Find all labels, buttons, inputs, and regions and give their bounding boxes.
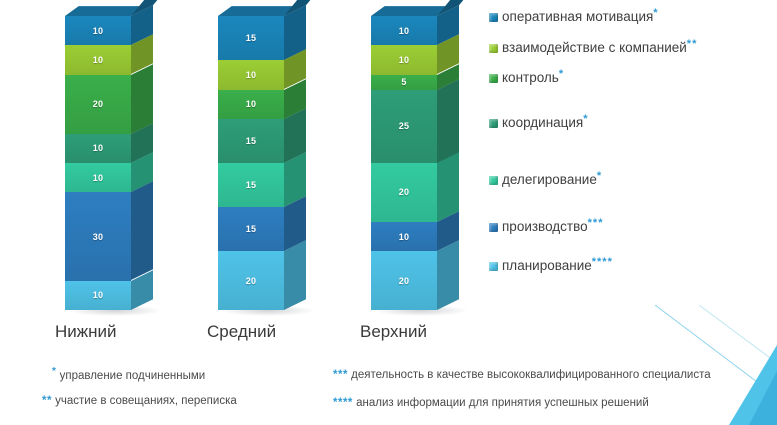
bar-side-face xyxy=(131,182,153,281)
footnote-4: **** анализ информации для принятия успе… xyxy=(333,397,649,409)
footnote-text: участие в совещаниях, переписка xyxy=(52,395,237,407)
legend-footnote-marker: * xyxy=(653,9,658,18)
bar-segment: 20 xyxy=(218,251,284,310)
legend-swatch-icon xyxy=(489,119,498,128)
legend-item-2[interactable]: взаимодействие с компанией** xyxy=(489,40,697,55)
bar-side-face xyxy=(437,152,459,222)
segment-value-label: 10 xyxy=(65,134,131,163)
bar-segment: 20 xyxy=(371,251,437,310)
segment-value-label: 15 xyxy=(218,163,284,207)
bar-segment: 10 xyxy=(65,16,131,45)
segment-value-label: 15 xyxy=(218,119,284,163)
legend-footnote-marker: ** xyxy=(687,40,698,49)
legend-item-6[interactable]: производство*** xyxy=(489,219,603,234)
legend-label: контроль xyxy=(502,70,559,85)
bar-segment: 10 xyxy=(65,45,131,74)
footnote-text: управление подчиненными xyxy=(56,370,205,382)
bar-segment: 25 xyxy=(371,90,437,164)
footnote-text: деятельность в качестве высококвалифицир… xyxy=(348,369,711,381)
legend-label: взаимодействие с компанией xyxy=(502,40,687,55)
bar-side-face xyxy=(437,79,459,163)
segment-value-label: 20 xyxy=(371,251,437,310)
category-label-2: Средний xyxy=(207,322,276,342)
legend-swatch-icon xyxy=(489,223,498,232)
footnote-2: ** участие в совещаниях, переписка xyxy=(42,395,237,407)
legend-label: производство xyxy=(502,219,588,234)
bar-column: 10102010103010 xyxy=(65,16,131,310)
legend-swatch-icon xyxy=(489,262,498,271)
bar-side-face xyxy=(131,64,153,134)
bar-segment: 15 xyxy=(218,16,284,60)
segment-value-label: 10 xyxy=(65,163,131,192)
legend-label: планирование xyxy=(502,258,592,273)
legend-swatch-icon xyxy=(489,13,498,22)
footnote-1: * управление подчиненными xyxy=(52,366,205,382)
segment-value-label: 20 xyxy=(218,251,284,310)
footnote-marker: ** xyxy=(42,395,52,407)
bar-column: 15101015151520 xyxy=(218,16,284,310)
segment-value-label: 5 xyxy=(371,75,437,90)
legend-item-7[interactable]: планирование**** xyxy=(489,258,613,273)
bar-segment: 15 xyxy=(218,119,284,163)
segment-value-label: 10 xyxy=(371,45,437,74)
bar-segment: 10 xyxy=(371,45,437,74)
legend-item-3[interactable]: контроль* xyxy=(489,70,564,85)
legend-item-4[interactable]: координация* xyxy=(489,115,589,130)
bar-segment: 20 xyxy=(65,75,131,134)
bar-segment: 5 xyxy=(371,75,437,90)
bar-segment: 10 xyxy=(371,16,437,45)
bar-side-face xyxy=(437,240,459,310)
bar-segment: 30 xyxy=(65,192,131,280)
segment-value-label: 10 xyxy=(65,16,131,45)
decorative-corner-graphic xyxy=(637,305,777,425)
legend-footnote-marker: *** xyxy=(588,219,604,228)
bar-нижний: 10102010103010 xyxy=(65,16,131,310)
category-label-3: Верхний xyxy=(360,322,427,342)
bar-segment: 10 xyxy=(65,134,131,163)
segment-value-label: 10 xyxy=(65,45,131,74)
legend-label: делегирование xyxy=(502,172,597,187)
segment-value-label: 30 xyxy=(65,192,131,280)
segment-value-label: 10 xyxy=(371,222,437,251)
segment-value-label: 25 xyxy=(371,90,437,164)
segment-value-label: 10 xyxy=(371,16,437,45)
legend-swatch-icon xyxy=(489,74,498,83)
segment-value-label: 20 xyxy=(371,163,437,222)
segment-value-label: 10 xyxy=(65,281,131,310)
legend-item-5[interactable]: делегирование* xyxy=(489,172,602,187)
chart-plot-area: 1010201010301015101015151520101052520102… xyxy=(0,0,490,320)
segment-value-label: 10 xyxy=(218,60,284,89)
bar-segment: 10 xyxy=(218,60,284,89)
chart-legend: оперативная мотивация*взаимодействие с к… xyxy=(489,0,777,295)
legend-label: оперативная мотивация xyxy=(502,9,653,24)
legend-footnote-marker: **** xyxy=(592,258,613,267)
legend-footnote-marker: * xyxy=(597,172,602,181)
footnote-marker: *** xyxy=(333,369,348,381)
bar-column: 1010525201020 xyxy=(371,16,437,310)
bar-segment: 15 xyxy=(218,207,284,251)
legend-footnote-marker: * xyxy=(583,115,588,124)
bar-segment: 10 xyxy=(371,222,437,251)
footnote-3: *** деятельность в качестве высококвалиф… xyxy=(333,369,711,381)
legend-footnote-marker: * xyxy=(559,70,564,79)
segment-value-label: 20 xyxy=(65,75,131,134)
segment-value-label: 15 xyxy=(218,207,284,251)
bar-верхний: 1010525201020 xyxy=(371,16,437,310)
bar-segment: 10 xyxy=(218,90,284,119)
bar-средний: 15101015151520 xyxy=(218,16,284,310)
legend-swatch-icon xyxy=(489,44,498,53)
segment-value-label: 10 xyxy=(218,90,284,119)
bar-segment: 10 xyxy=(65,163,131,192)
bar-segment: 10 xyxy=(65,281,131,310)
legend-item-1[interactable]: оперативная мотивация* xyxy=(489,9,659,24)
bar-segment: 15 xyxy=(218,163,284,207)
bar-segment: 20 xyxy=(371,163,437,222)
segment-value-label: 15 xyxy=(218,16,284,60)
footnote-text: анализ информации для принятия успешных … xyxy=(353,397,649,409)
legend-swatch-icon xyxy=(489,176,498,185)
bar-side-face xyxy=(284,240,306,310)
legend-label: координация xyxy=(502,115,583,130)
category-label-1: Нижний xyxy=(55,322,117,342)
footnote-marker: **** xyxy=(333,397,353,409)
